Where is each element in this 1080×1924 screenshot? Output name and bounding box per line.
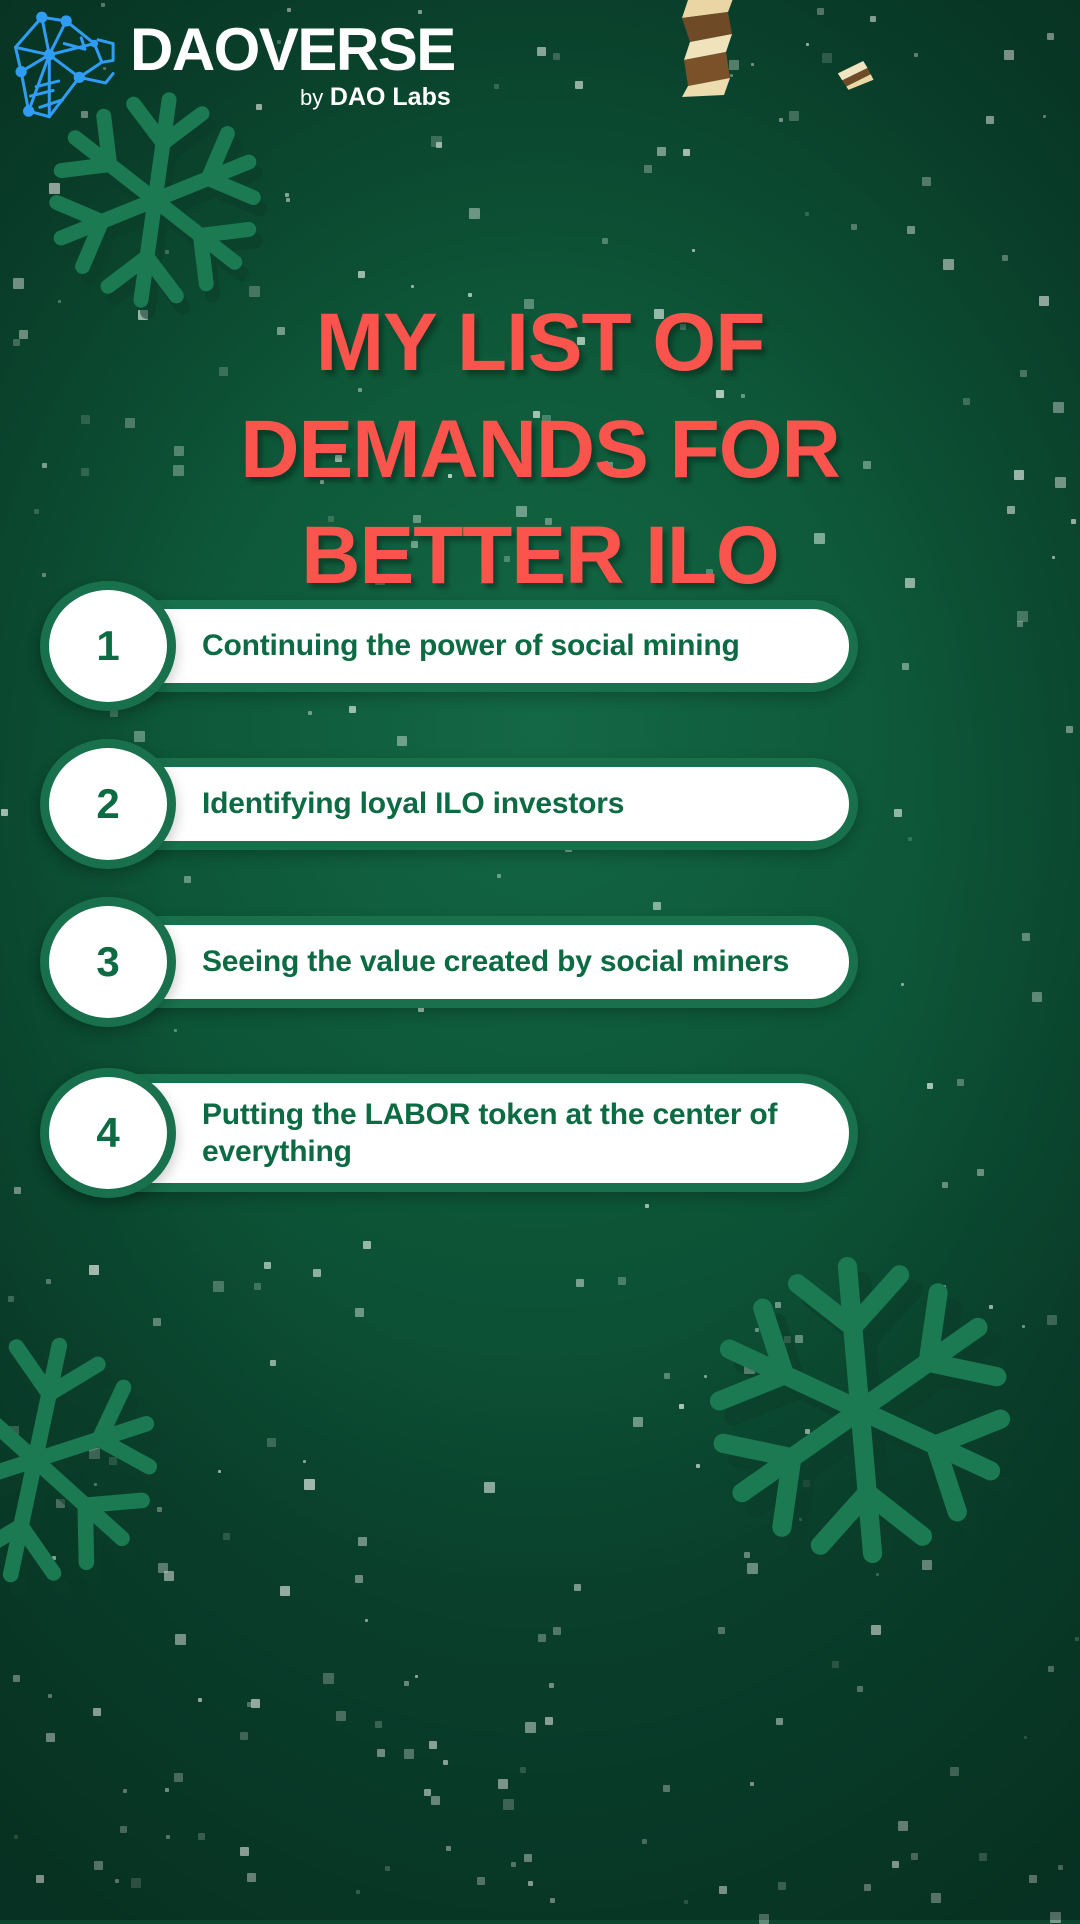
- page-title-line-1: MY LIST OF: [0, 290, 1080, 397]
- list-item-number-badge: 4: [40, 1068, 176, 1198]
- list-item-label: Putting the LABOR token at the center of…: [202, 1074, 832, 1192]
- brand-wordmark-block: DAOVERSE by DAO Labs: [130, 4, 455, 110]
- list-item-label: Identifying loyal ILO investors: [202, 758, 832, 850]
- brand-logo[interactable]: DAOVERSE by DAO Labs: [8, 4, 455, 128]
- list-item-number-badge: 1: [40, 581, 176, 711]
- page-title: MY LIST OF DEMANDS FOR BETTER ILO: [0, 290, 1080, 610]
- page-title-line-3: BETTER ILO: [0, 503, 1080, 610]
- brand-wordmark: DAOVERSE: [130, 20, 455, 80]
- list-item[interactable]: Continuing the power of social mining 1: [42, 600, 858, 692]
- list-item[interactable]: Identifying loyal ILO investors 2: [42, 758, 858, 850]
- daoverse-circuit-tree-icon: [8, 6, 130, 128]
- snowflake-bottom-right-icon: [687, 1237, 1034, 1584]
- list-item-number-badge: 3: [40, 897, 176, 1027]
- list-item-label: Continuing the power of social mining: [202, 600, 832, 692]
- page-title-line-2: DEMANDS FOR: [0, 397, 1080, 504]
- list-item-number-badge: 2: [40, 739, 176, 869]
- brand-byline-prefix: by: [300, 85, 323, 110]
- demands-list: Continuing the power of social mining 1 …: [42, 600, 858, 1258]
- list-item[interactable]: Putting the LABOR token at the center of…: [42, 1074, 858, 1192]
- list-item[interactable]: Seeing the value created by social miner…: [42, 916, 858, 1008]
- brand-byline-name: DAO Labs: [330, 83, 451, 111]
- list-item-label: Seeing the value created by social miner…: [202, 916, 832, 1008]
- brand-byline: by DAO Labs: [130, 85, 455, 110]
- ribbon-confetti-top-right-icon: [668, 0, 748, 104]
